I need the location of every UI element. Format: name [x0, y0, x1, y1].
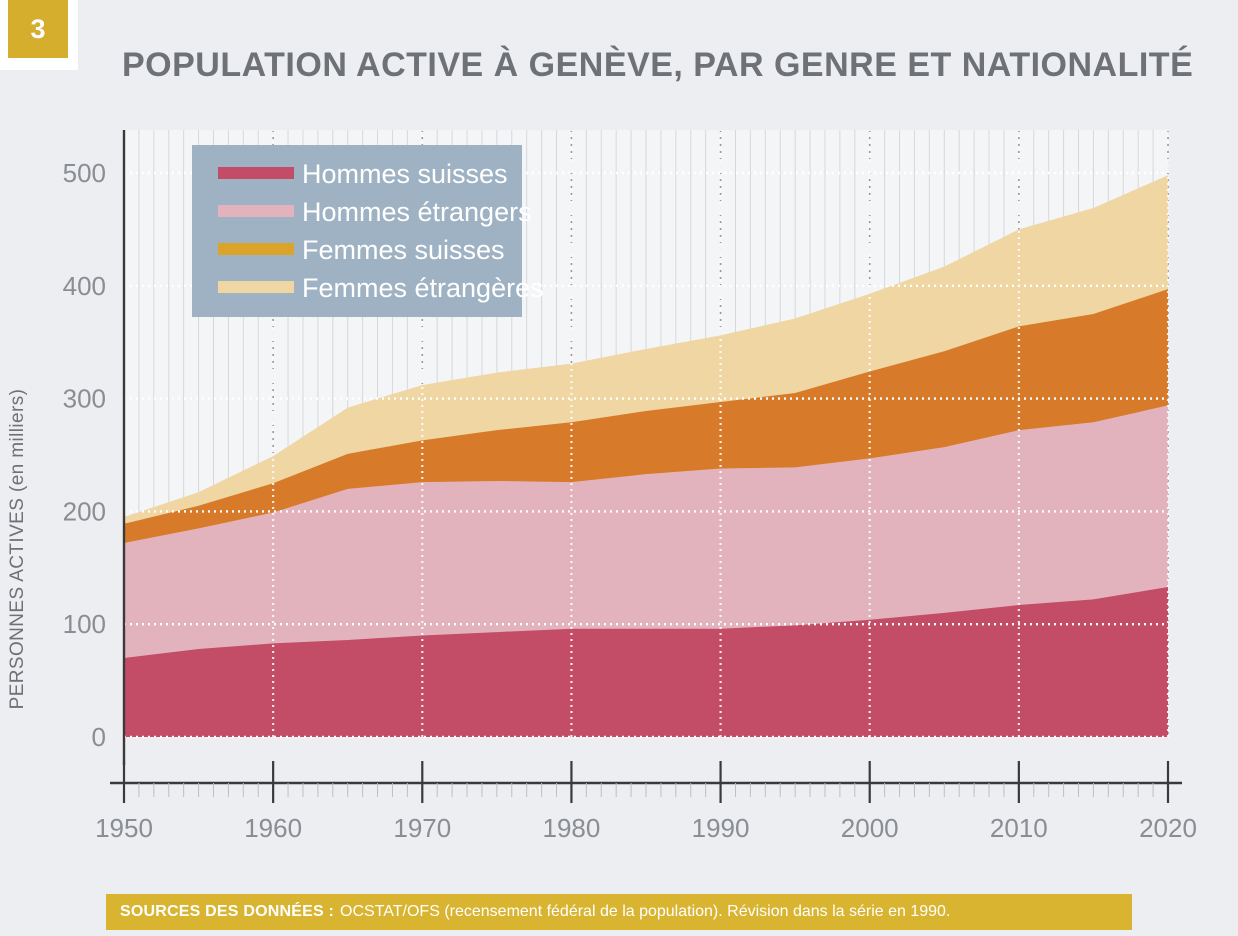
figure-number: 3 [30, 16, 45, 43]
legend-label: Hommes étrangers [302, 197, 532, 227]
y-tick-label: 500 [63, 158, 106, 188]
legend-label: Hommes suisses [302, 159, 508, 189]
y-tick-label: 100 [63, 609, 106, 639]
legend-swatch [218, 281, 294, 293]
y-tick-label: 0 [92, 722, 106, 752]
source-text: OCSTAT/OFS (recensement fédéral de la po… [340, 903, 950, 921]
figure-number-badge-container: 3 [0, 0, 78, 70]
figure-number-badge: 3 [8, 0, 68, 58]
legend-swatch [218, 205, 294, 217]
x-tick-label: 2010 [990, 813, 1048, 843]
infographic-page: 3 POPULATION ACTIVE À GENÈVE, PAR GENRE … [0, 0, 1238, 936]
x-tick-label: 1960 [244, 813, 302, 843]
x-tick-label: 1970 [393, 813, 451, 843]
x-tick-label: 2020 [1139, 813, 1197, 843]
source-label: SOURCES DES DONNÉES : [120, 903, 334, 921]
stacked-area-chart: 1950196019701980199020002010202001002003… [0, 118, 1238, 878]
x-tick-label: 1980 [543, 813, 601, 843]
x-tick-label: 1990 [692, 813, 750, 843]
source-footer: SOURCES DES DONNÉES : OCSTAT/OFS (recens… [106, 894, 1132, 930]
y-tick-label: 300 [63, 384, 106, 414]
y-tick-label: 200 [63, 496, 106, 526]
legend-swatch [218, 243, 294, 255]
x-tick-label: 1950 [95, 813, 153, 843]
legend-label: Femmes étrangères [302, 273, 544, 303]
y-tick-label: 400 [63, 271, 106, 301]
legend-swatch [218, 167, 294, 179]
x-tick-label: 2000 [841, 813, 899, 843]
chart-legend: Hommes suissesHommes étrangersFemmes sui… [192, 145, 544, 317]
legend-label: Femmes suisses [302, 235, 505, 265]
chart-container: PERSONNES ACTIVES (en milliers) 19501960… [0, 118, 1238, 878]
page-title: POPULATION ACTIVE À GENÈVE, PAR GENRE ET… [122, 46, 1193, 85]
